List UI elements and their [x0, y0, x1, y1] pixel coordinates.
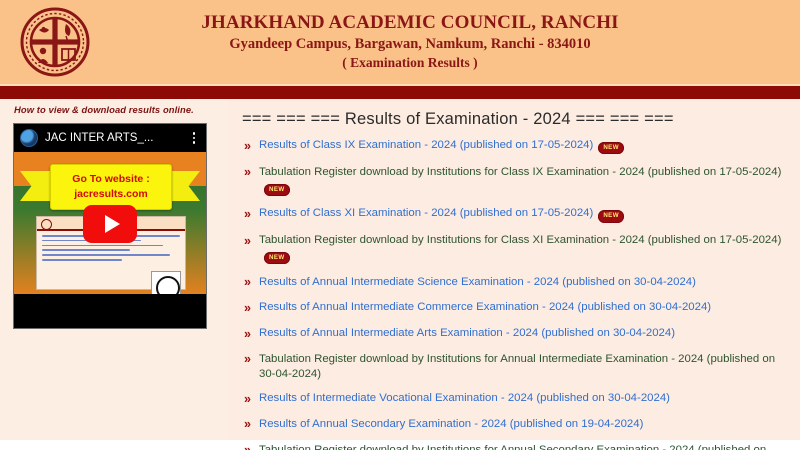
logo-container — [0, 0, 110, 84]
jac-seal-logo — [19, 6, 91, 78]
result-link[interactable]: Results of Class XI Examination - 2024 (… — [259, 206, 782, 223]
video-topbar: JAC INTER ARTS_... — [14, 124, 206, 152]
chevron-double-right-icon: » — [244, 391, 259, 407]
organization-subtitle: ( Examination Results ) — [110, 54, 710, 73]
chevron-double-right-icon: » — [244, 352, 259, 368]
chevron-double-right-icon: » — [244, 165, 259, 181]
result-label: Tabulation Register download by Institut… — [259, 233, 782, 265]
result-link[interactable]: Results of Annual Intermediate Arts Exam… — [259, 326, 782, 341]
result-link[interactable]: Results of Annual Intermediate Commerce … — [259, 300, 782, 315]
result-link[interactable]: Results of Annual Secondary Examination … — [259, 417, 782, 432]
new-badge: NEW — [598, 142, 624, 154]
result-link[interactable]: Results of Intermediate Vocational Exami… — [259, 391, 782, 406]
result-label: Tabulation Register download by Institut… — [259, 352, 782, 382]
ribbon-line-1: Go To website : — [72, 172, 149, 187]
list-item[interactable]: »Tabulation Register download by Institu… — [230, 443, 792, 450]
howto-caption: How to view & download results online. — [14, 104, 222, 115]
list-item[interactable]: »Results of Annual Intermediate Arts Exa… — [230, 326, 792, 342]
new-badge: NEW — [264, 184, 290, 196]
new-badge: NEW — [598, 210, 624, 222]
video-bottom-bar — [14, 294, 206, 328]
chevron-double-right-icon: » — [244, 275, 259, 291]
video-thumbnail[interactable]: Go To website : jacresults.com — [14, 152, 206, 296]
list-item[interactable]: »Tabulation Register download by Institu… — [230, 352, 792, 382]
list-item[interactable]: »Results of Annual Intermediate Commerce… — [230, 300, 792, 316]
preview-seal-icon — [41, 219, 52, 230]
page-title: === === === Results of Examination - 202… — [228, 99, 800, 129]
organization-address: Gyandeep Campus, Bargawan, Namkum, Ranch… — [110, 35, 710, 55]
results-panel: === === === Results of Examination - 202… — [228, 99, 800, 440]
list-item[interactable]: »Results of Class XI Examination - 2024 … — [230, 206, 792, 223]
channel-avatar-icon — [20, 129, 38, 147]
new-badge: NEW — [264, 252, 290, 264]
chevron-double-right-icon: » — [244, 300, 259, 316]
chevron-double-right-icon: » — [244, 443, 259, 450]
result-link[interactable]: Results of Class IX Examination - 2024 (… — [259, 138, 782, 155]
video-player[interactable]: JAC INTER ARTS_... Go To website : jacre… — [13, 123, 207, 329]
chevron-double-right-icon: » — [244, 326, 259, 342]
result-link[interactable]: Results of Annual Intermediate Science E… — [259, 275, 782, 290]
list-item[interactable]: »Results of Class IX Examination - 2024 … — [230, 138, 792, 155]
site-header: JHARKHAND ACADEMIC COUNCIL, RANCHI Gyand… — [0, 0, 800, 84]
video-ribbon-banner: Go To website : jacresults.com — [50, 164, 172, 210]
chevron-double-right-icon: » — [244, 417, 259, 433]
header-red-bar — [0, 86, 800, 99]
chevron-double-right-icon: » — [244, 233, 259, 249]
results-list: »Results of Class IX Examination - 2024 … — [228, 129, 800, 450]
body-area: How to view & download results online. J… — [0, 99, 800, 440]
result-label: Tabulation Register download by Institut… — [259, 165, 782, 197]
list-item[interactable]: »Results of Intermediate Vocational Exam… — [230, 391, 792, 407]
ribbon-line-2: jacresults.com — [74, 187, 148, 202]
list-item[interactable]: »Tabulation Register download by Institu… — [230, 165, 792, 197]
sidebar: How to view & download results online. J… — [0, 99, 222, 440]
chevron-double-right-icon: » — [244, 206, 259, 222]
page-root: JHARKHAND ACADEMIC COUNCIL, RANCHI Gyand… — [0, 0, 800, 450]
header-text-block: JHARKHAND ACADEMIC COUNCIL, RANCHI Gyand… — [110, 11, 800, 73]
list-item[interactable]: »Results of Annual Intermediate Science … — [230, 275, 792, 291]
organization-title: JHARKHAND ACADEMIC COUNCIL, RANCHI — [110, 11, 710, 35]
result-label: Tabulation Register download by Institut… — [259, 443, 782, 450]
kebab-menu-icon[interactable] — [188, 132, 200, 144]
list-item[interactable]: »Results of Annual Secondary Examination… — [230, 417, 792, 433]
video-channel-title: JAC INTER ARTS_... — [45, 132, 188, 144]
chevron-double-right-icon: » — [244, 138, 259, 154]
list-item[interactable]: »Tabulation Register download by Institu… — [230, 233, 792, 265]
youtube-play-icon[interactable] — [83, 205, 137, 243]
